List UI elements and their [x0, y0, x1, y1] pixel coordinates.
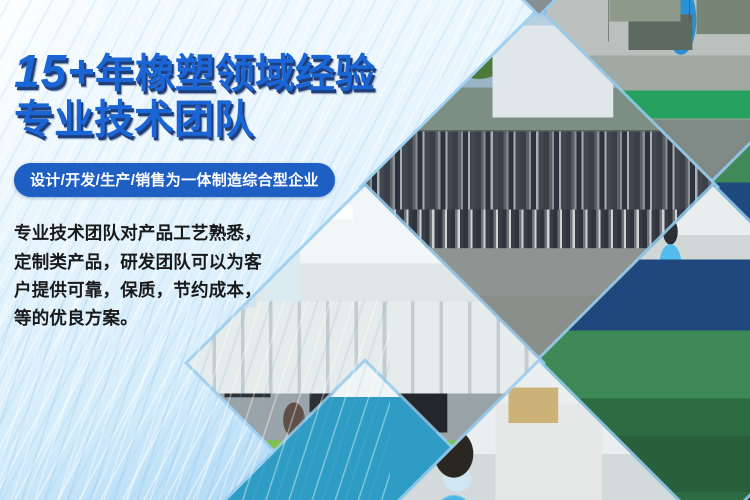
banner-copy: 15+年橡塑领域经验 专业技术团队 设计/开发/生产/销售为一体制造综合型企业 …: [14, 48, 344, 333]
headline-line-2: 专业技术团队: [14, 100, 344, 142]
photo-desk-operator: [362, 0, 716, 14]
photo-staff-assembly-queue: [362, 10, 716, 364]
tile-factory-molding-machines: [536, 0, 750, 190]
photo-reception-lobby: [188, 362, 542, 500]
tagline-pill: 设计/开发/生产/销售为一体制造综合型企业: [14, 163, 335, 197]
tile-desk-operator: [362, 0, 716, 14]
tile-desk-operator-lower: [708, 362, 750, 500]
photo-desk-operator-lower: [708, 362, 750, 500]
headline-line-2-text: 专业技术团队: [14, 98, 254, 142]
promo-banner: 15+年橡塑领域经验 专业技术团队 设计/开发/生产/销售为一体制造综合型企业 …: [0, 0, 750, 500]
photo-inspection-line: [536, 186, 750, 500]
photo-workshop-floor: [708, 10, 750, 364]
headline-line-1: 15+年橡塑领域经验: [14, 48, 344, 96]
tile-workshop-floor: [708, 10, 750, 364]
years-number: 15+: [14, 45, 95, 97]
body-paragraph: 专业技术团队对产品工艺熟悉，定制类产品，研发团队可以为客户提供可靠，保质，节约成…: [14, 219, 279, 332]
headline-line-1-text: 年橡塑领域经验: [95, 52, 375, 96]
photo-factory-molding-machines: [536, 0, 750, 190]
tile-staff-assembly-queue: [362, 10, 716, 364]
tile-reception-lobby: [188, 362, 542, 500]
tile-inspection-line: [536, 186, 750, 500]
tile-lab-testing: [362, 362, 716, 500]
photo-lab-testing: [362, 362, 716, 500]
